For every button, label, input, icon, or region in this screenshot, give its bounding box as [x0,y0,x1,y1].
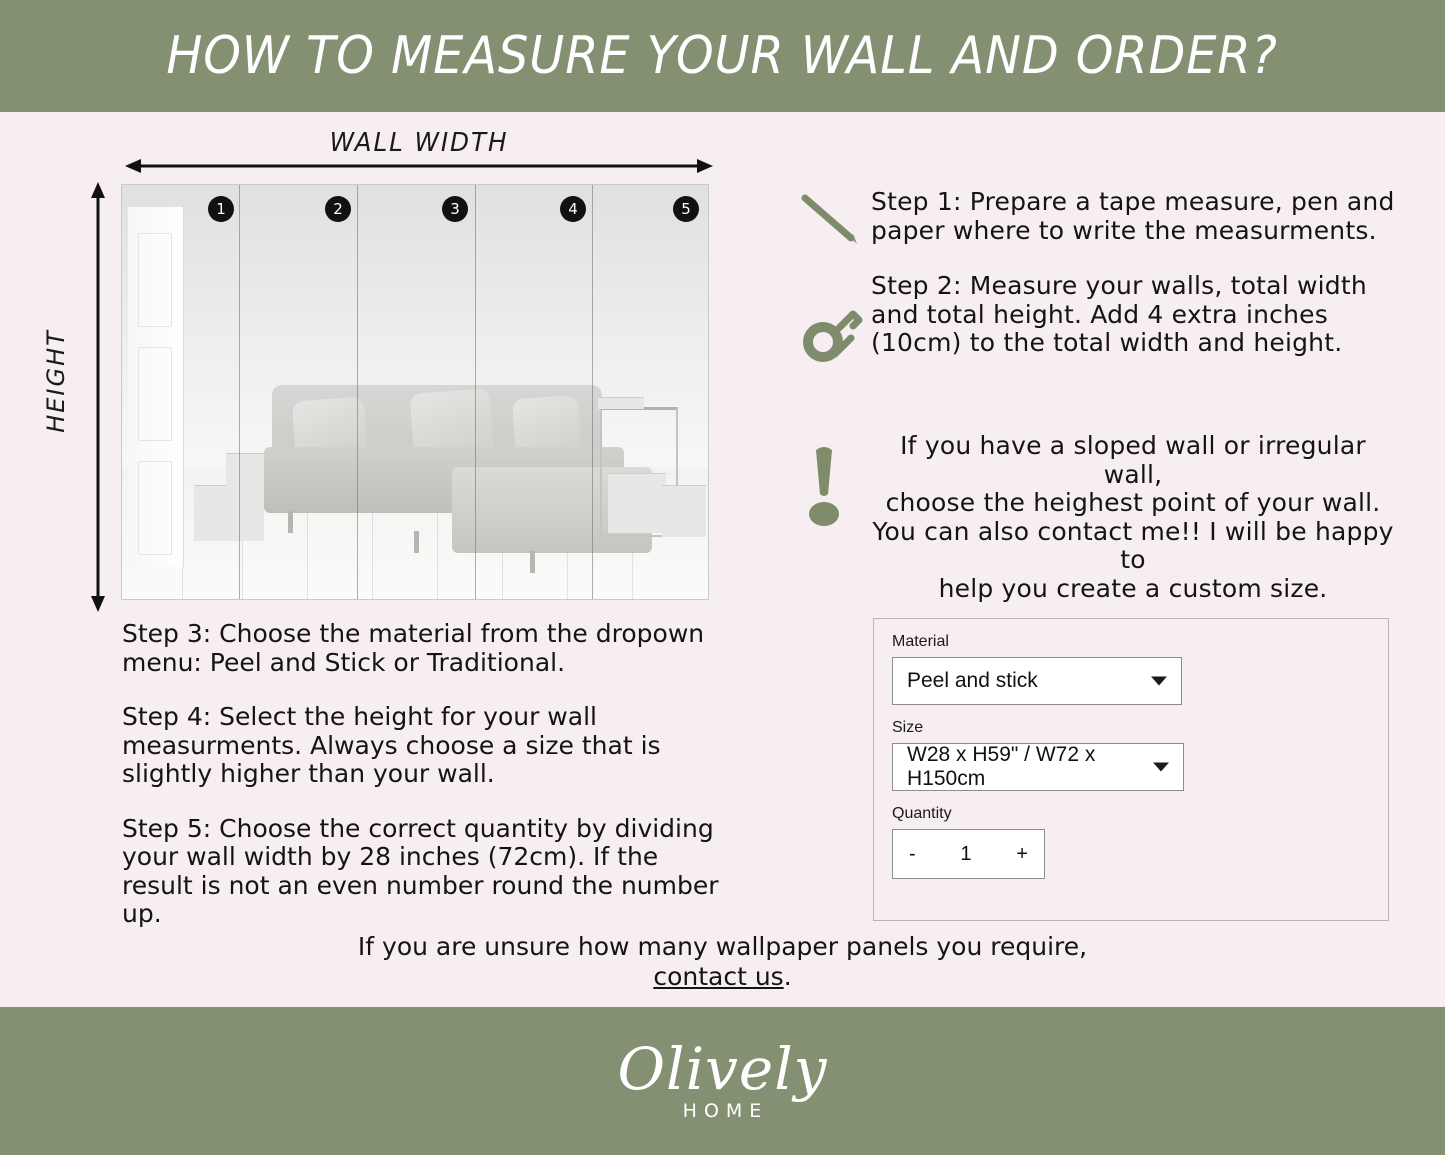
header-banner: HOW TO MEASURE YOUR WALL AND ORDER? [0,0,1445,112]
size-select-value: W28 x H59" / W72 x H150cm [907,743,1169,791]
quantity-stepper[interactable]: - 1 + [892,829,1045,879]
book-stack [194,485,264,541]
wall-diagram: WALL WIDTH HEIGHT [0,112,760,612]
panel-badge-3: 3 [442,196,468,222]
material-select[interactable]: Peel and stick [892,657,1182,705]
panel-badge-5: 5 [673,196,699,222]
panel-badge-2: 2 [325,196,351,222]
quantity-value: 1 [960,843,971,866]
bottom-note-line-2: contact us. [0,962,1445,992]
book-stack [598,397,644,409]
bottom-note-period: . [784,962,792,991]
step-2-row: Step 2: Measure your walls, total width … [795,272,1405,375]
warning-line-1: If you have a sloped wall or irregular w… [871,432,1395,489]
steps-left-column: Step 3: Choose the material from the dro… [122,620,722,955]
footer-banner: Olively HOME [0,1007,1445,1155]
book-stack [662,485,706,537]
chevron-down-icon [1153,763,1169,772]
brand-logo: Olively [617,1040,827,1098]
size-label: Size [892,719,1370,737]
step-3-text: Step 3: Choose the material from the dro… [122,620,722,677]
contact-us-link[interactable]: contact us [653,962,783,991]
panel-badge-1: 1 [208,196,234,222]
wall-height-arrow-icon [88,182,108,612]
step-4-text: Step 4: Select the height for your wall … [122,703,722,789]
warning-row: If you have a sloped wall or irregular w… [795,432,1395,603]
step-2-text: Step 2: Measure your walls, total width … [871,272,1405,358]
bottom-note-line-1: If you are unsure how many wallpaper pan… [0,932,1445,962]
quantity-decrement-button[interactable]: - [909,843,916,866]
size-select[interactable]: W28 x H59" / W72 x H150cm [892,743,1184,791]
panel-badge-4: 4 [560,196,586,222]
wall-width-label: WALL WIDTH [140,128,699,158]
order-options-panel: Material Peel and stick Size W28 x H59" … [873,618,1389,921]
bottom-note: If you are unsure how many wallpaper pan… [0,932,1445,991]
pencil-icon [795,188,871,257]
wall-width-arrow-icon [125,156,713,176]
warning-line-3: You can also contact me!! I will be happ… [871,518,1395,575]
step-1-row: Step 1: Prepare a tape measure, pen and … [795,188,1395,257]
warning-text: If you have a sloped wall or irregular w… [871,432,1395,603]
step-5-text: Step 5: Choose the correct quantity by d… [122,815,722,929]
tape-measure-icon [795,272,871,375]
page-title: HOW TO MEASURE YOUR WALL AND ORDER? [167,26,1279,86]
brand-logo-subtitle: HOME [683,1100,769,1122]
exclamation-icon [795,432,871,533]
step-1-text: Step 1: Prepare a tape measure, pen and … [871,188,1395,245]
quantity-increment-button[interactable]: + [1016,843,1028,866]
material-label: Material [892,633,1370,651]
wall-height-label: HEIGHT [42,311,70,451]
room-preview-image [121,184,709,600]
warning-line-4: help you create a custom size. [871,575,1395,604]
door-graphic [128,207,184,567]
chevron-down-icon [1151,677,1167,686]
warning-line-2: choose the heighest point of your wall. [871,489,1395,518]
material-select-value: Peel and stick [907,669,1038,693]
quantity-label: Quantity [892,805,1370,823]
book-stack [608,473,666,533]
